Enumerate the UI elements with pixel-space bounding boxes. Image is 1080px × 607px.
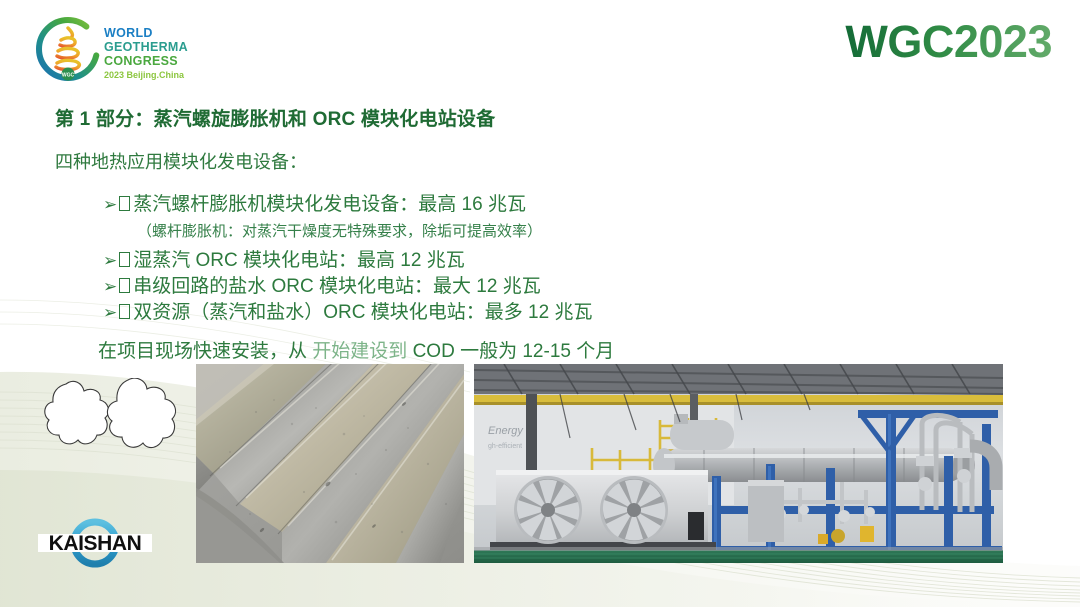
chevron-right-bullet-icon: ➢ xyxy=(103,248,117,274)
list-item: ➢ 湿蒸汽 ORC 模块化电站：最高 12 兆瓦 xyxy=(103,248,803,274)
list-item-label: 串级回路的盐水 ORC 模块化电站：最大 12 兆瓦 xyxy=(133,274,540,300)
closing-text: 在项目现场快速安装，从 开始建设到 COD 一般为 12-15 个月 xyxy=(98,336,614,363)
missing-glyph-box-icon xyxy=(119,196,130,211)
list-item: ➢ 串级回路的盐水 ORC 模块化电站：最大 12 兆瓦 xyxy=(103,274,803,300)
closing-text-part3: COD 一般为 12-15 个月 xyxy=(407,341,614,362)
list-item-subnote: （螺杆膨胀机：对蒸汽干燥度无特殊要求，除垢可提高效率） xyxy=(137,221,803,243)
closing-text-part1: 在项目现场快速安装，从 xyxy=(98,341,312,362)
list-item: ➢ 蒸汽螺杆膨胀机模块化发电设备：最高 16 兆瓦 （螺杆膨胀机：对蒸汽干燥度无… xyxy=(103,192,803,243)
list-item-label: 双资源（蒸汽和盐水）ORC 模块化电站：最多 12 兆瓦 xyxy=(133,300,592,326)
slide-root: WGC WORLD GEOTHERMAL CONGRESS 2023 Beiji… xyxy=(0,0,1080,607)
chevron-right-bullet-icon: ➢ xyxy=(103,192,117,218)
list-item-label: 湿蒸汽 ORC 模块化电站：最高 12 兆瓦 xyxy=(133,248,464,274)
orc-modular-power-station-photo: Energy gh-efficient xyxy=(474,364,1003,563)
list-item: ➢ 双资源（蒸汽和盐水）ORC 模块化电站：最多 12 兆瓦 xyxy=(103,300,803,326)
missing-glyph-box-icon xyxy=(119,252,130,267)
list-item-label: 蒸汽螺杆膨胀机模块化发电设备：最高 16 兆瓦 xyxy=(133,192,526,218)
closing-text-part2: 开始建设到 xyxy=(312,341,407,362)
kaishan-logo-text: KAISHAN xyxy=(49,532,142,555)
screw-expander-rotor-photo xyxy=(196,364,464,563)
chevron-right-bullet-icon: ➢ xyxy=(103,300,117,326)
page-title: 第 1 部分：蒸汽螺旋膨胀机和 ORC 模块化电站设备 xyxy=(55,104,495,131)
chevron-right-bullet-icon: ➢ xyxy=(103,274,117,300)
kaishan-logo: KAISHAN xyxy=(30,512,160,574)
blob-doodle-decoration xyxy=(36,378,186,473)
bullet-list: ➢ 蒸汽螺杆膨胀机模块化发电设备：最高 16 兆瓦 （螺杆膨胀机：对蒸汽干燥度无… xyxy=(103,192,803,326)
intro-text: 四种地热应用模块化发电设备： xyxy=(55,148,307,174)
missing-glyph-box-icon xyxy=(119,304,130,319)
missing-glyph-box-icon xyxy=(119,278,130,293)
wall-text-energy: Energy xyxy=(488,425,524,437)
wall-text-sub: gh-efficient xyxy=(488,443,522,450)
